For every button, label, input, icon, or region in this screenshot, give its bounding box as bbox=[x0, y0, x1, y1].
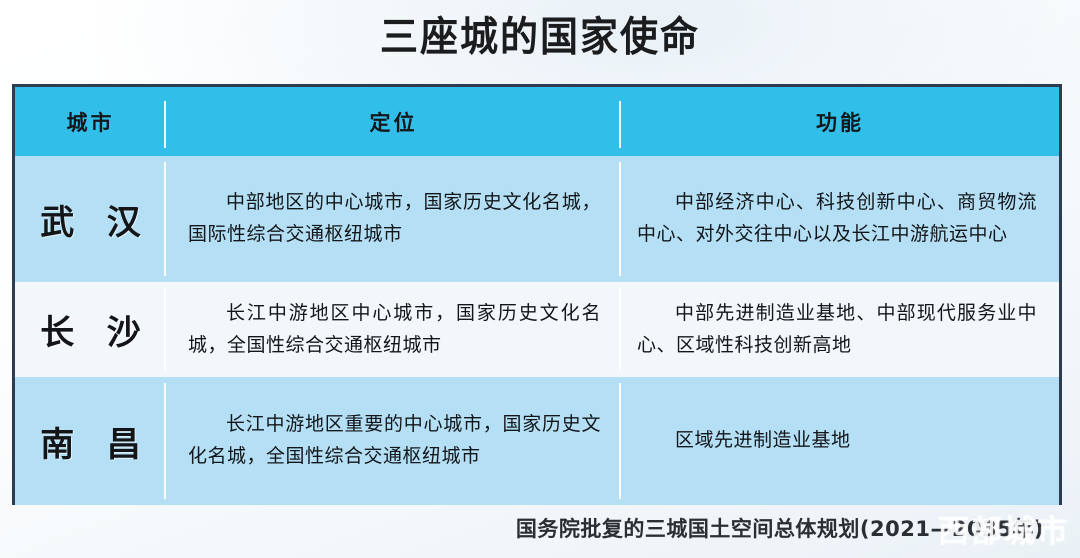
function-text-nanchang: 区域先进制造业基地 bbox=[621, 377, 1059, 505]
cell-role: 长江中游地区重要的中心城市，国家历史文化名城，全国性综合交通枢纽城市 bbox=[166, 377, 621, 505]
header-label-function: 功能 bbox=[621, 87, 1059, 156]
source-caption: 国务院批复的三城国土空间总体规划(2021—2035年) bbox=[0, 513, 1062, 543]
header-cell-city: 城市 bbox=[15, 87, 166, 156]
header-label-role: 定位 bbox=[166, 87, 621, 156]
city-name-nanchang: 南 昌 bbox=[15, 377, 166, 505]
role-text-changsha: 长江中游地区中心城市，国家历史文化名城，全国性综合交通枢纽城市 bbox=[166, 282, 621, 377]
page-title: 三座城的国家使命 bbox=[380, 18, 700, 58]
cell-function: 区域先进制造业基地 bbox=[621, 377, 1059, 505]
mission-table: 城市 定位 功能 武 汉 中部地区的中心城市，国家历史文化名城，国际性综合交通枢… bbox=[12, 84, 1062, 505]
cell-function: 中部经济中心、科技创新中心、商贸物流中心、对外交往中心以及长江中游航运中心 bbox=[621, 156, 1059, 282]
function-text-changsha: 中部先进制造业基地、中部现代服务业中心、区域性科技创新高地 bbox=[621, 282, 1059, 377]
role-text-wuhan: 中部地区的中心城市，国家历史文化名城，国际性综合交通枢纽城市 bbox=[166, 156, 621, 282]
cell-role: 长江中游地区中心城市，国家历史文化名城，全国性综合交通枢纽城市 bbox=[166, 282, 621, 377]
header-cell-role: 定位 bbox=[166, 87, 621, 156]
function-text-wuhan: 中部经济中心、科技创新中心、商贸物流中心、对外交往中心以及长江中游航运中心 bbox=[621, 156, 1059, 282]
title-bar: 三座城的国家使命 bbox=[0, 0, 1080, 78]
table-row: 武 汉 中部地区的中心城市，国家历史文化名城，国际性综合交通枢纽城市 中部经济中… bbox=[15, 156, 1059, 282]
city-name-wuhan: 武 汉 bbox=[15, 156, 166, 282]
table-header-row: 城市 定位 功能 bbox=[15, 87, 1059, 156]
header-label-city: 城市 bbox=[15, 87, 166, 156]
table-row: 长 沙 长江中游地区中心城市，国家历史文化名城，全国性综合交通枢纽城市 中部先进… bbox=[15, 282, 1059, 377]
cell-function: 中部先进制造业基地、中部现代服务业中心、区域性科技创新高地 bbox=[621, 282, 1059, 377]
cell-city: 武 汉 bbox=[15, 156, 166, 282]
role-text-nanchang: 长江中游地区重要的中心城市，国家历史文化名城，全国性综合交通枢纽城市 bbox=[166, 377, 621, 505]
cell-city: 长 沙 bbox=[15, 282, 166, 377]
table-row: 南 昌 长江中游地区重要的中心城市，国家历史文化名城，全国性综合交通枢纽城市 区… bbox=[15, 377, 1059, 505]
header-cell-function: 功能 bbox=[621, 87, 1059, 156]
cell-city: 南 昌 bbox=[15, 377, 166, 505]
cell-role: 中部地区的中心城市，国家历史文化名城，国际性综合交通枢纽城市 bbox=[166, 156, 621, 282]
infographic-page: 三座城的国家使命 城市 定位 功能 武 汉 中部地区的中心城市，国家历史文化名城… bbox=[0, 0, 1080, 558]
city-name-changsha: 长 沙 bbox=[15, 282, 166, 377]
